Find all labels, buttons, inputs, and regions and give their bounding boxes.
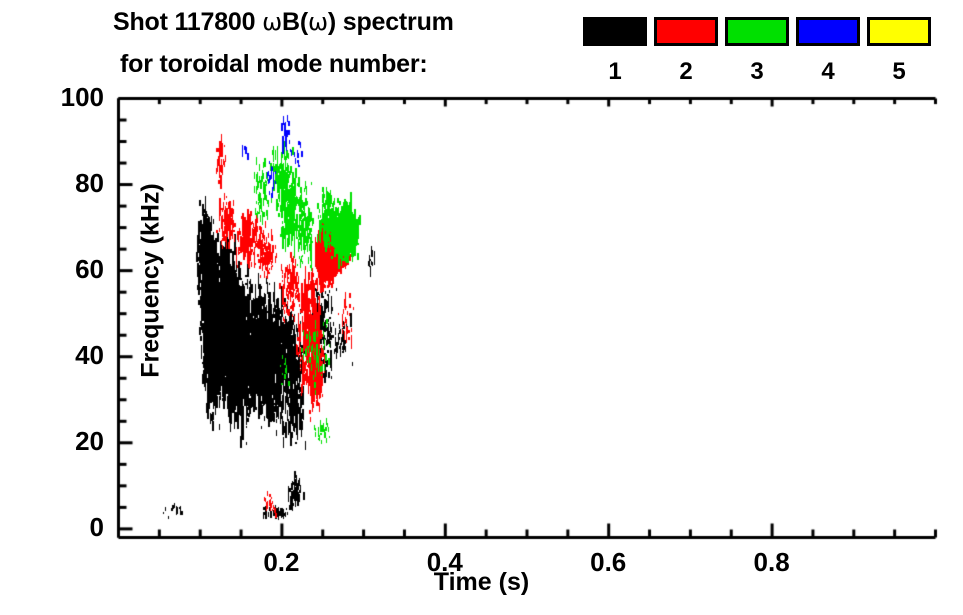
legend-label-1: 1 <box>583 60 647 84</box>
y-tick-label-20: 20 <box>14 428 104 454</box>
y-tick-label-0: 0 <box>14 514 104 540</box>
legend-swatch-5 <box>867 17 931 46</box>
legend-entry-3[interactable]: 3 <box>725 17 787 92</box>
legend-entry-2[interactable]: 2 <box>654 17 716 92</box>
omega-symbol-1: ω <box>262 8 282 36</box>
y-tick-label-80: 80 <box>14 170 104 196</box>
legend-label-2: 2 <box>654 60 718 84</box>
title-text-suffix: ) spectrum <box>328 8 454 36</box>
legend-label-5: 5 <box>867 60 931 84</box>
y-tick-label-100: 100 <box>14 84 104 110</box>
x-axis-title: Time (s) <box>0 570 963 595</box>
legend-entry-4[interactable]: 4 <box>796 17 858 92</box>
spectrogram-canvas <box>118 98 935 537</box>
legend-swatch-2 <box>654 17 718 46</box>
legend: 12345 <box>583 17 933 92</box>
plot-area: Frequency (kHz) 0204060801000.20.40.60.8 <box>118 98 935 537</box>
legend-label-4: 4 <box>796 60 860 84</box>
legend-entry-1[interactable]: 1 <box>583 17 645 92</box>
y-axis-title: Frequency (kHz) <box>139 131 164 431</box>
y-tick-label-40: 40 <box>14 342 104 368</box>
legend-swatch-4 <box>796 17 860 46</box>
figure-title-line-2: for toroidal mode number: <box>120 52 428 77</box>
legend-entry-5[interactable]: 5 <box>867 17 929 92</box>
legend-swatch-1 <box>583 17 647 46</box>
y-tick-label-60: 60 <box>14 256 104 282</box>
legend-label-3: 3 <box>725 60 789 84</box>
title-text-mid: B( <box>282 8 308 36</box>
legend-swatch-3 <box>725 17 789 46</box>
spectrogram-figure: Shot 117800 ωB(ω) spectrum for toroidal … <box>0 0 963 615</box>
omega-symbol-2: ω <box>308 8 328 36</box>
title-text-prefix: Shot 117800 <box>113 8 262 36</box>
figure-title-line-1: Shot 117800 ωB(ω) spectrum <box>113 10 454 35</box>
